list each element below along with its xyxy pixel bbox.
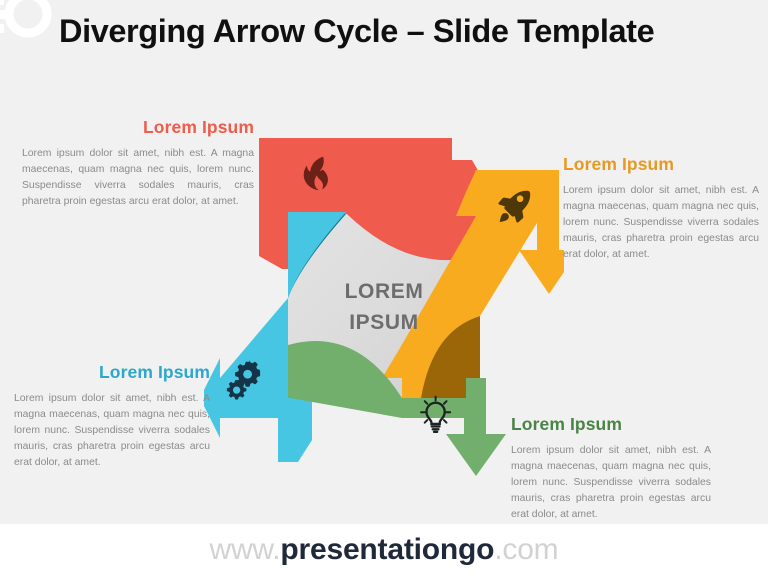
- segment-heading-bottom-right: Lorem Ipsum: [511, 415, 711, 434]
- footer-website-url[interactable]: www.presentationgo.com: [0, 524, 768, 576]
- footer-url-brand: presentationgo: [280, 533, 494, 567]
- segment-body-top-left: Lorem ipsum dolor sit amet, nibh est. A …: [22, 146, 254, 209]
- text-block-bottom-right: Lorem Ipsum Lorem ipsum dolor sit amet, …: [511, 415, 711, 522]
- segment-heading-top-left: Lorem Ipsum: [22, 118, 254, 137]
- segment-heading-bottom-left: Lorem Ipsum: [14, 363, 210, 382]
- page-title: Diverging Arrow Cycle – Slide Template: [59, 12, 669, 52]
- segment-heading-top-right: Lorem Ipsum: [563, 155, 759, 174]
- footer-url-suffix: .com: [494, 533, 558, 567]
- presentationgo-watermark-logo: [0, 0, 60, 42]
- center-label-line2: IPSUM: [349, 311, 419, 334]
- text-block-top-left: Lorem Ipsum Lorem ipsum dolor sit amet, …: [22, 118, 254, 210]
- text-block-top-right: Lorem Ipsum Lorem ipsum dolor sit amet, …: [563, 155, 759, 262]
- text-block-bottom-left: Lorem Ipsum Lorem ipsum dolor sit amet, …: [14, 363, 210, 470]
- center-label-line1: LOREM: [345, 280, 424, 303]
- footer-url-prefix: www.: [210, 533, 281, 567]
- segment-body-bottom-right: Lorem ipsum dolor sit amet, nibh est. A …: [511, 443, 711, 522]
- footer-band: www.presentationgo.com: [0, 524, 768, 576]
- segment-body-bottom-left: Lorem ipsum dolor sit amet, nibh est. A …: [14, 391, 210, 470]
- segment-body-top-right: Lorem ipsum dolor sit amet, nibh est. A …: [563, 183, 759, 262]
- diverging-arrow-cycle-diagram: LOREM IPSUM: [204, 126, 564, 478]
